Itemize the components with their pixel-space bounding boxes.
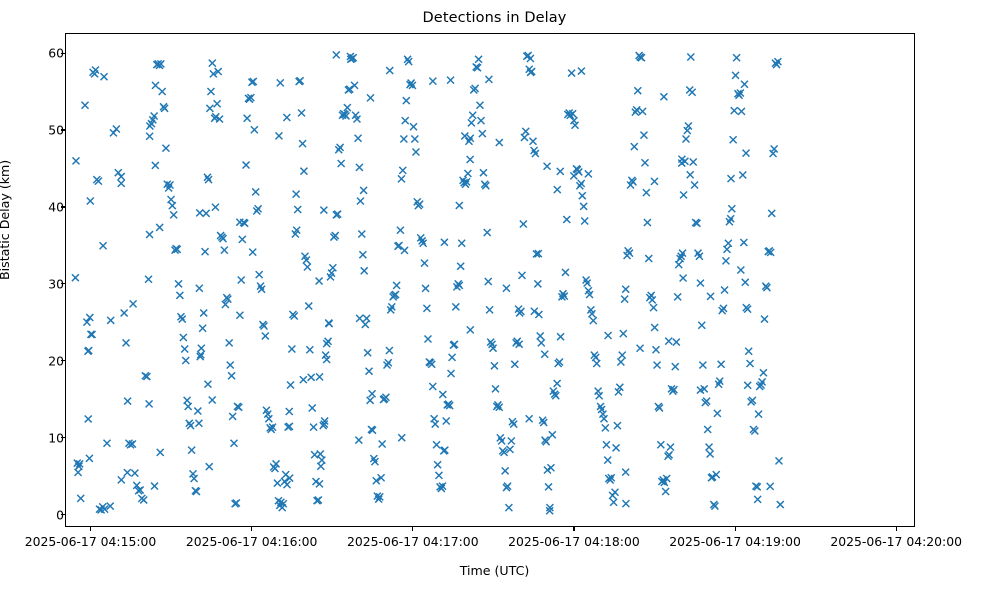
x-tick-mark [90, 527, 91, 531]
plot-area [65, 33, 915, 527]
y-tick-label: 40 [48, 199, 64, 214]
x-tick-mark [251, 527, 252, 531]
y-axis-label: Bistatic Delay (km) [0, 160, 12, 280]
x-tick-mark [896, 527, 897, 531]
x-tick-label: 2025-06-17 04:20:00 [830, 534, 962, 549]
x-tick-label: 2025-06-17 04:18:00 [508, 534, 640, 549]
x-tick-label: 2025-06-17 04:15:00 [25, 534, 157, 549]
y-tick-label: 0 [56, 507, 64, 522]
x-axis-label: Time (UTC) [0, 563, 989, 578]
y-tick-label: 30 [48, 276, 64, 291]
x-tick-label: 2025-06-17 04:19:00 [669, 534, 801, 549]
x-tick-mark [735, 527, 736, 531]
scatter-series [66, 34, 914, 526]
y-tick-label: 20 [48, 353, 64, 368]
x-tick-label: 2025-06-17 04:16:00 [186, 534, 318, 549]
y-tick-label: 10 [48, 430, 64, 445]
y-tick-label: 50 [48, 122, 64, 137]
x-tick-mark [412, 527, 413, 531]
y-tick-label: 60 [48, 46, 64, 61]
x-tick-mark [573, 527, 574, 531]
matplotlib-figure: Detections in Delay Time (UTC) Bistatic … [0, 0, 989, 590]
chart-title: Detections in Delay [0, 10, 989, 26]
x-tick-label: 2025-06-17 04:17:00 [347, 534, 479, 549]
